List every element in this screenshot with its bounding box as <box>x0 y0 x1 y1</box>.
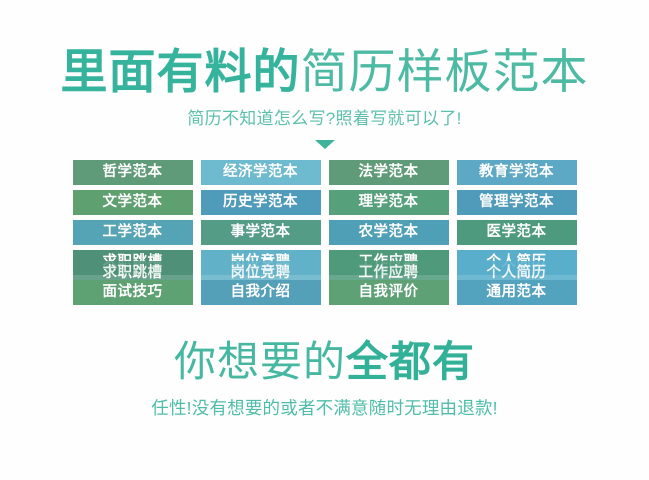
footer-title: 你想要的全都有 <box>0 337 649 387</box>
category-row: 哲学范本经济学范本法学范本教育学范本 <box>73 160 577 185</box>
page-title: 里面有料的简历样板范本 <box>0 44 649 100</box>
category-button[interactable]: 历史学范本 <box>201 190 321 215</box>
category-button[interactable]: 理学范本 <box>329 190 449 215</box>
category-button[interactable]: 求职跳槽 <box>73 250 193 275</box>
category-button[interactable]: 个人简历 <box>457 250 577 275</box>
promo-page: 里面有料的简历样板范本 简历不知道怎么写?照着写就可以了! 哲学范本经济学范本法… <box>0 0 649 480</box>
category-button[interactable]: 工学范本 <box>73 220 193 245</box>
category-button[interactable]: 自我评价 <box>329 280 449 305</box>
page-title-light: 简历样板范本 <box>301 45 589 98</box>
header-block: 里面有料的简历样板范本 简历不知道怎么写?照着写就可以了! <box>0 44 649 151</box>
category-button[interactable]: 工作应聘 <box>329 250 449 275</box>
category-row: 文学范本历史学范本理学范本管理学范本 <box>73 190 577 215</box>
category-button[interactable]: 法学范本 <box>329 160 449 185</box>
footer-title-strong: 全都有 <box>346 338 475 385</box>
category-row: 求职跳槽岗位竞聘工作应聘个人简历求职跳槽岗位竞聘工作应聘个人简历 <box>73 250 577 275</box>
category-button[interactable]: 自我介绍 <box>201 280 321 305</box>
footer-block: 你想要的全都有 任性!没有想要的或者不满意随时无理由退款! <box>0 337 649 421</box>
category-button[interactable]: 哲学范本 <box>73 160 193 185</box>
category-button[interactable]: 管理学范本 <box>457 190 577 215</box>
category-button[interactable]: 事学范本 <box>201 220 321 245</box>
footer-tagline: 任性!没有想要的或者不满意随时无理由退款! <box>0 395 649 421</box>
category-button-grid: 哲学范本经济学范本法学范本教育学范本文学范本历史学范本理学范本管理学范本工学范本… <box>73 160 577 310</box>
category-row: 面试技巧自我介绍自我评价通用范本 <box>73 280 577 305</box>
arrow-wrap <box>0 137 649 151</box>
category-button[interactable]: 岗位竞聘 <box>201 250 321 275</box>
footer-title-light: 你想要的 <box>174 338 346 385</box>
category-button[interactable]: 教育学范本 <box>457 160 577 185</box>
category-button[interactable]: 通用范本 <box>457 280 577 305</box>
category-row: 工学范本事学范本农学范本医学范本 <box>73 220 577 245</box>
triangle-down-icon <box>315 140 335 149</box>
category-button[interactable]: 医学范本 <box>457 220 577 245</box>
category-button[interactable]: 面试技巧 <box>73 280 193 305</box>
page-subtitle: 简历不知道怎么写?照着写就可以了! <box>0 107 649 131</box>
category-button[interactable]: 经济学范本 <box>201 160 321 185</box>
category-button[interactable]: 文学范本 <box>73 190 193 215</box>
category-button[interactable]: 农学范本 <box>329 220 449 245</box>
page-title-strong: 里面有料的 <box>61 45 301 98</box>
